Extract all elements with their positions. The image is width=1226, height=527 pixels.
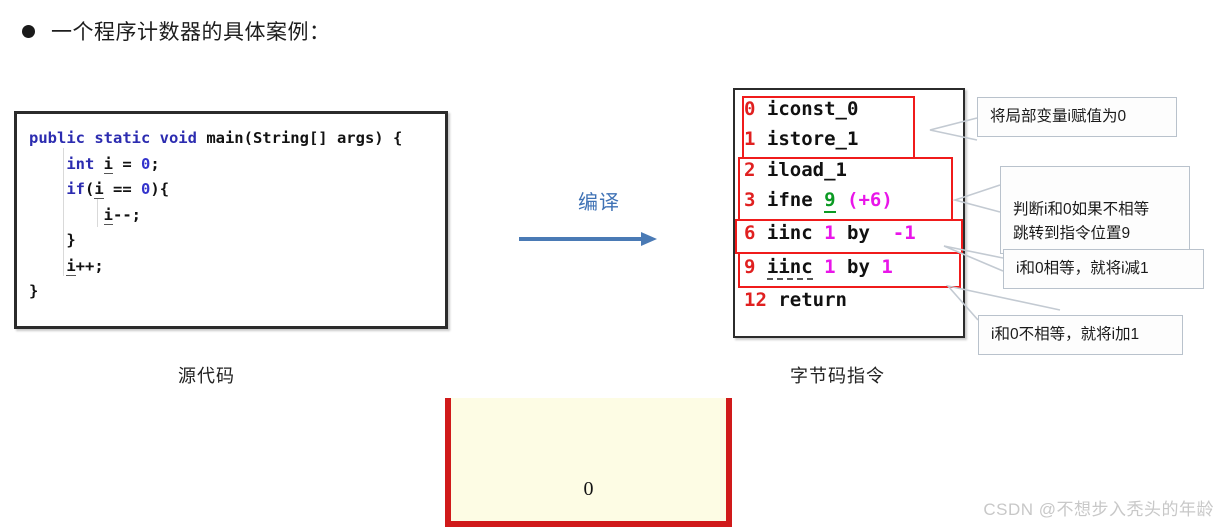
callout-1: 将局部变量i赋值为0 [977,97,1177,137]
bytecode-offset: 12 [744,289,767,311]
code-token: i [104,206,113,225]
code-token [29,257,66,275]
bytecode-token: iload_1 [767,159,847,181]
code-token: ){ [150,180,169,198]
bytecode-token [813,256,824,278]
bytecode-token: istore_1 [767,128,859,150]
code-token: == [104,180,141,198]
bytecode-offset: 0 [744,98,755,120]
watermark: CSDN @不想步入秃头的年龄 [983,495,1214,520]
code-token: i [66,257,75,276]
callout-4-text: i和0不相等，就将i加1 [991,326,1139,343]
bytecode-token: by [836,256,882,278]
bytecode-line: 0 iconst_0 [744,98,858,120]
bytecode-token: 1 [824,222,835,244]
bytecode-token: iinc [767,222,824,244]
bytecode-token: return [778,289,847,311]
code-token: ( [85,180,94,198]
source-code-panel: public static void main(String[] args) {… [14,111,448,329]
right-arrow-icon [519,232,679,246]
code-line: } [29,279,402,305]
bytecode-offset: 3 [744,189,755,211]
bytecode-offset: 2 [744,159,755,181]
bytecode-offset: 9 [744,256,755,278]
bytecode-token [836,189,847,211]
bytecode-line: 3 ifne 9 (+6) [744,189,893,211]
bytecode-token: 1 [881,256,892,278]
code-token: if [66,180,85,198]
code-line: i--; [29,203,402,229]
bytecode-token: iconst_0 [767,98,859,120]
code-token: main [206,129,243,147]
bytecode-offset: 1 [744,128,755,150]
bytecode-token: (+6) [847,189,893,211]
bytecode-line: 2 iload_1 [744,159,847,181]
code-token: i [104,155,113,174]
callout-3-text: i和0相等，就将i减1 [1016,260,1149,277]
bytecode-line: 12 return [744,289,847,311]
bytecode-token: 9 [824,189,835,213]
code-token [29,180,66,198]
code-token: 0 [141,180,150,198]
compile-arrow-group: 编译 [519,186,679,246]
source-code-caption: 源代码 [178,362,235,388]
bytecode-line: 6 iinc 1 by -1 [744,222,916,244]
program-counter-value: 0 [451,478,726,501]
code-line: if(i == 0){ [29,177,402,203]
code-token: int [66,155,103,173]
bytecode-offset: 6 [744,222,755,244]
code-token: 0 [141,155,150,173]
page-title: 一个程序计数器的具体案例： [51,16,331,46]
code-token: } [29,231,76,249]
bytecode-token: -1 [893,222,916,244]
bullet-dot-icon [22,25,35,38]
source-code-text: public static void main(String[] args) {… [29,126,402,305]
callout-1-text: 将局部变量i赋值为0 [990,108,1126,125]
bytecode-line: 1 istore_1 [744,128,858,150]
code-line: int i = 0; [29,152,402,178]
code-token: ; [150,155,159,173]
callout-3: i和0相等，就将i减1 [1003,249,1204,289]
code-line: } [29,228,402,254]
bytecode-panel: 0 iconst_01 istore_12 iload_13 ifne 9 (+… [733,88,965,338]
bytecode-line: 9 iinc 1 by 1 [744,256,893,278]
code-token: --; [113,206,141,224]
callout-4: i和0不相等，就将i加1 [978,315,1183,355]
bytecode-token [881,222,892,244]
code-token: (String[] args) { [244,129,403,147]
code-token: ++; [76,257,104,275]
code-token [29,155,66,173]
page-heading: 一个程序计数器的具体案例： [22,16,331,46]
callout-2-text: 判断i和0如果不相等 跳转到指令位置9 [1013,201,1149,242]
compile-label: 编译 [519,186,679,215]
code-token [29,206,104,224]
code-token: } [29,282,38,300]
code-token: public static void [29,129,206,147]
code-token: i [94,180,103,199]
bytecode-token: by [836,222,882,244]
bytecode-token: 1 [824,256,835,278]
program-counter-box: 0 [445,398,732,527]
code-token: = [113,155,141,173]
callout-2: 判断i和0如果不相等 跳转到指令位置9 [1000,166,1190,254]
code-line: public static void main(String[] args) { [29,126,402,152]
code-line: i++; [29,254,402,280]
bytecode-token: iinc [767,256,813,280]
bytecode-caption: 字节码指令 [790,362,885,388]
bytecode-token: ifne [767,189,824,211]
